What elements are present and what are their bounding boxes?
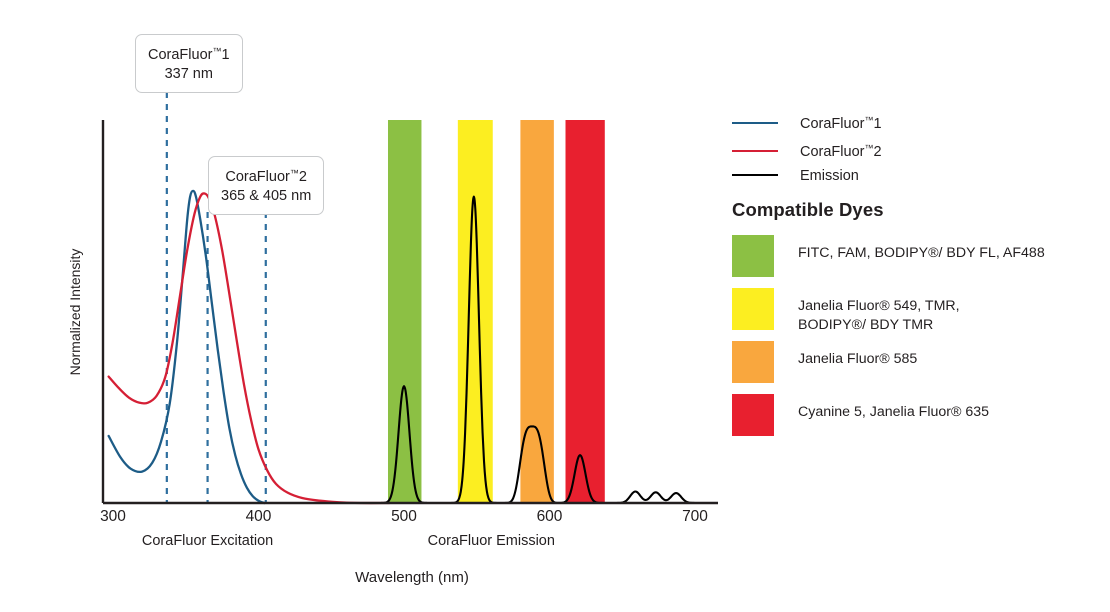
chart-area: 300400500600700 CoraFluor ExcitationCora… <box>0 0 730 612</box>
green-band <box>388 120 421 503</box>
callout-cf2-line1: CoraFluor™2 <box>221 164 311 187</box>
callout-cf2-line2: 365 & 405 nm <box>221 187 311 206</box>
legend-series-label: CoraFluor™1 <box>800 115 882 132</box>
curve-excitation-1 <box>109 191 265 503</box>
dye-color-swatch <box>732 288 774 330</box>
dye-legend-row-3: Janelia Fluor® 585 <box>730 341 917 383</box>
x-tick-label-group: 300400500600700 <box>100 508 708 525</box>
y-axis-title: Normalized Intensity <box>67 249 83 376</box>
x-tick-label-300: 300 <box>100 508 126 525</box>
dye-legend-label: Cyanine 5, Janelia Fluor® 635 <box>798 394 989 422</box>
legend-line-swatch <box>732 174 778 176</box>
dye-color-swatch <box>732 235 774 277</box>
dye-legend-label: FITC, FAM, BODIPY®/ BDY FL, AF488 <box>798 235 1045 263</box>
callout-cf1-line2: 337 nm <box>148 65 230 84</box>
axis-caption-group: CoraFluor ExcitationCoraFluor Emission <box>142 533 555 549</box>
compatible-dyes-heading: Compatible Dyes <box>732 199 884 221</box>
legend-panel: CoraFluor™1CoraFluor™2Emission Compatibl… <box>730 0 1110 612</box>
dye-legend-row-2: Janelia Fluor® 549, TMR, BODIPY®/ BDY TM… <box>730 288 960 335</box>
x-axis-title: Wavelength (nm) <box>355 569 469 586</box>
callout-corafluor-2: CoraFluor™2 365 & 405 nm <box>208 156 324 215</box>
orange-band <box>520 120 553 503</box>
legend-series-row-3: Emission <box>730 164 859 186</box>
x-tick-label-500: 500 <box>391 508 417 525</box>
dye-legend-row-1: FITC, FAM, BODIPY®/ BDY FL, AF488 <box>730 235 1045 277</box>
legend-line-swatch <box>732 150 778 152</box>
x-tick-label-700: 700 <box>682 508 708 525</box>
legend-series-row-1: CoraFluor™1 <box>730 112 882 134</box>
spectra-figure: 300400500600700 CoraFluor ExcitationCora… <box>0 0 1110 612</box>
red-band <box>566 120 605 503</box>
dye-band-group <box>388 120 605 503</box>
dye-legend-label: Janelia Fluor® 549, TMR, BODIPY®/ BDY TM… <box>798 288 960 335</box>
dye-legend-label: Janelia Fluor® 585 <box>798 341 917 369</box>
legend-series-label: Emission <box>800 167 859 184</box>
curve-emission <box>288 197 713 503</box>
spectra-chart-svg: 300400500600700 CoraFluor ExcitationCora… <box>0 0 730 612</box>
caption-corafluor-emission: CoraFluor Emission <box>428 533 555 549</box>
callout-corafluor-1: CoraFluor™1 337 nm <box>135 34 243 93</box>
legend-series-row-2: CoraFluor™2 <box>730 140 882 162</box>
x-tick-label-600: 600 <box>537 508 563 525</box>
dye-legend-row-4: Cyanine 5, Janelia Fluor® 635 <box>730 394 989 436</box>
legend-line-swatch <box>732 122 778 124</box>
curve-excitation-2 <box>109 193 390 503</box>
x-tick-label-400: 400 <box>246 508 272 525</box>
dye-color-swatch <box>732 394 774 436</box>
dye-color-swatch <box>732 341 774 383</box>
legend-series-label: CoraFluor™2 <box>800 143 882 160</box>
yellow-band <box>458 120 493 503</box>
caption-corafluor-excitation: CoraFluor Excitation <box>142 533 273 549</box>
callout-cf1-line1: CoraFluor™1 <box>148 42 230 65</box>
